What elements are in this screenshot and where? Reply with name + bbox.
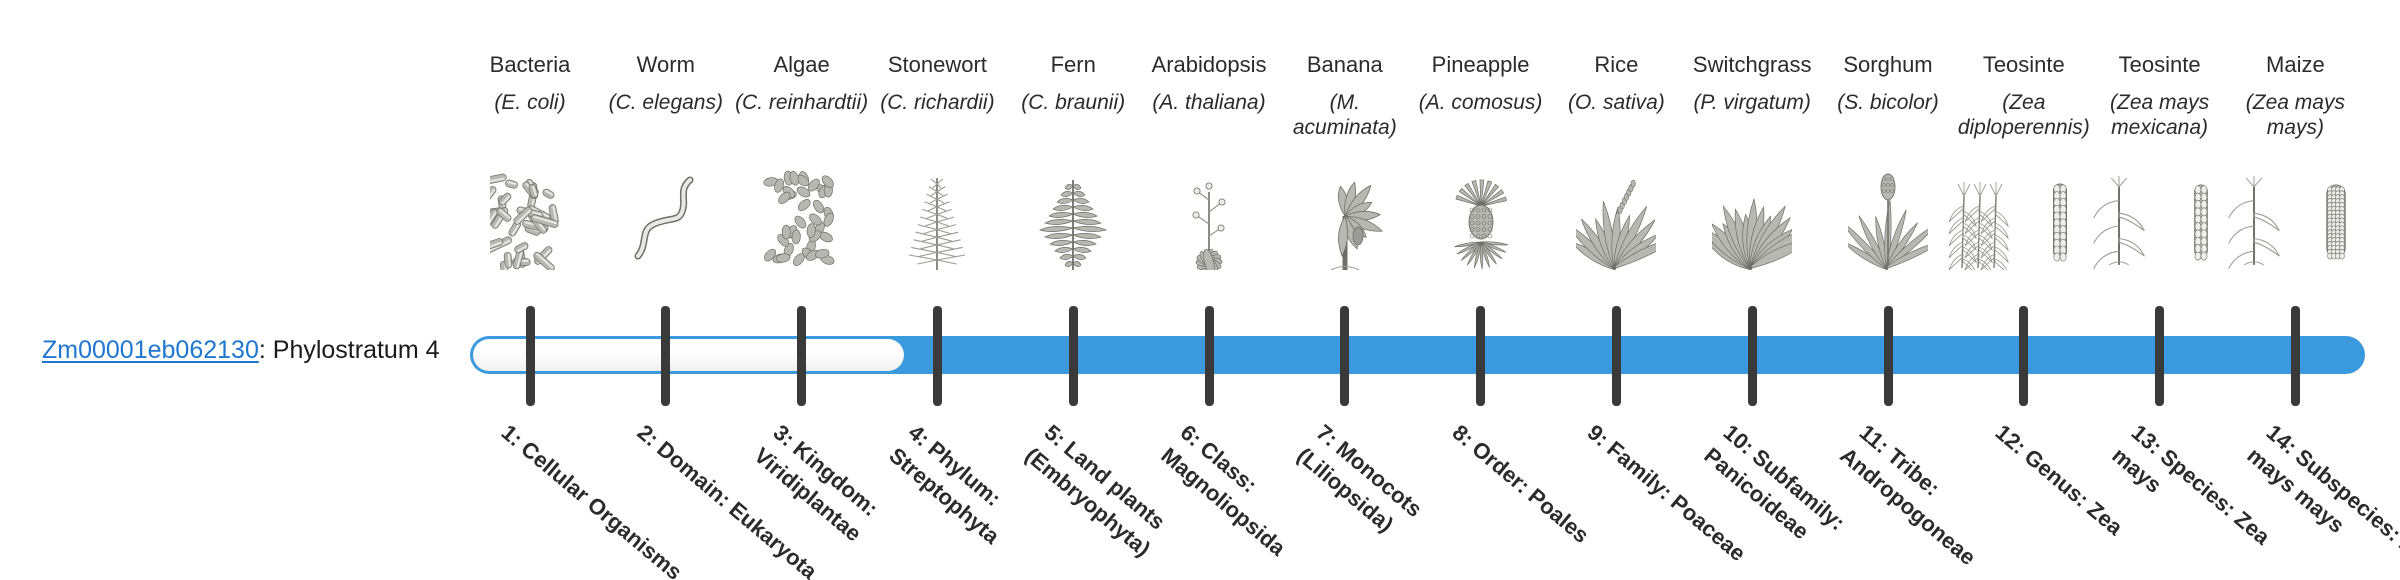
stonewort-icon [869, 160, 1005, 270]
phylostratum-tick[interactable] [1476, 306, 1485, 406]
species-column: Teosinte(Zea mays mexicana) [2092, 52, 2228, 140]
species-column: Fern(C. braunii) [1005, 52, 1141, 140]
species-common-name: Arabidopsis [1141, 52, 1277, 78]
switchgrass-icon [1684, 160, 1820, 270]
species-common-name: Switchgrass [1684, 52, 1820, 78]
species-common-name: Algae [734, 52, 870, 78]
arabidopsis-icon [1141, 160, 1277, 270]
phylostratum-tick[interactable] [2291, 306, 2300, 406]
species-common-name: Stonewort [869, 52, 1005, 78]
species-common-name: Fern [1005, 52, 1141, 78]
phylostratum-bar[interactable] [470, 336, 2365, 374]
species-common-name: Sorghum [1820, 52, 1956, 78]
phylostratum-figure: Zm00001eb062130: Phylostratum 4 Bacteria… [0, 0, 2400, 580]
phylostratum-tick[interactable] [1340, 306, 1349, 406]
species-common-name: Banana [1277, 52, 1413, 78]
species-latin-name: (O. sativa) [1548, 90, 1684, 140]
species-latin-name: (Zea diploperennis) [1956, 90, 2092, 140]
species-column: Maize(Zea mays mays) [2227, 52, 2363, 140]
species-common-name: Rice [1548, 52, 1684, 78]
gene-separator: : [259, 336, 273, 364]
phylostratum-tick[interactable] [1612, 306, 1621, 406]
phylostratum-bar-unfilled [473, 339, 904, 371]
gene-phylostratum-caption: Zm00001eb062130: Phylostratum 4 [42, 335, 440, 365]
species-column: Bacteria(E. coli) [462, 52, 598, 140]
species-column: Switchgrass(P. virgatum) [1684, 52, 1820, 140]
species-latin-name: (A. comosus) [1413, 90, 1549, 140]
species-common-name: Maize [2227, 52, 2363, 78]
species-column: Algae(C. reinhardtii) [734, 52, 870, 140]
phylostratum-tick[interactable] [2155, 306, 2164, 406]
phylostratum-tick[interactable] [797, 306, 806, 406]
species-latin-name: (A. thaliana) [1141, 90, 1277, 140]
species-latin-name: (C. braunii) [1005, 90, 1141, 140]
species-common-name: Worm [598, 52, 734, 78]
phylostratum-tick[interactable] [933, 306, 942, 406]
bacteria-rods-icon [462, 160, 598, 270]
phylostratum-value: Phylostratum 4 [273, 336, 440, 364]
pineapple-icon [1413, 160, 1549, 270]
rice-plant-icon [1548, 160, 1684, 270]
species-latin-name: (Zea mays mexicana) [2092, 90, 2228, 140]
algae-cells-icon [734, 160, 870, 270]
species-latin-name: (E. coli) [462, 90, 598, 140]
species-column: Arabidopsis(A. thaliana) [1141, 52, 1277, 140]
species-latin-name: (C. reinhardtii) [734, 90, 870, 140]
species-latin-name: (M. acuminata) [1277, 90, 1413, 140]
stratum-rank-name: Order: Poales [1467, 436, 1594, 548]
species-column: Teosinte(Zea diploperennis) [1956, 52, 2092, 140]
phylostratum-tick[interactable] [1748, 306, 1757, 406]
phylostratum-tick[interactable] [661, 306, 670, 406]
phylostratum-tick[interactable] [1205, 306, 1214, 406]
species-common-name: Bacteria [462, 52, 598, 78]
phylostratum-tick[interactable] [1069, 306, 1078, 406]
fern-frond-icon [1005, 160, 1141, 270]
nematode-worm-icon [598, 160, 734, 270]
species-common-name: Teosinte [1956, 52, 2092, 78]
species-column: Worm(C. elegans) [598, 52, 734, 140]
species-column: Rice(O. sativa) [1548, 52, 1684, 140]
species-latin-name: (S. bicolor) [1820, 90, 1956, 140]
phylostratum-tick[interactable] [1884, 306, 1893, 406]
phylostratum-tick[interactable] [2019, 306, 2028, 406]
species-column: Pineapple(A. comosus) [1413, 52, 1549, 140]
species-common-name: Teosinte [2092, 52, 2228, 78]
species-latin-name: (C. richardii) [869, 90, 1005, 140]
maize-plant-cob-icon [2215, 160, 2375, 270]
gene-id-link[interactable]: Zm00001eb062130 [42, 336, 259, 364]
species-common-name: Pineapple [1413, 52, 1549, 78]
sorghum-icon [1820, 160, 1956, 270]
species-column: Banana(M. acuminata) [1277, 52, 1413, 140]
phylostratum-tick[interactable] [526, 306, 535, 406]
species-column: Sorghum(S. bicolor) [1820, 52, 1956, 140]
banana-plant-icon [1277, 160, 1413, 270]
species-latin-name: (C. elegans) [598, 90, 734, 140]
species-latin-name: (Zea mays mays) [2227, 90, 2363, 140]
species-latin-name: (P. virgatum) [1684, 90, 1820, 140]
species-column: Stonewort(C. richardii) [869, 52, 1005, 140]
